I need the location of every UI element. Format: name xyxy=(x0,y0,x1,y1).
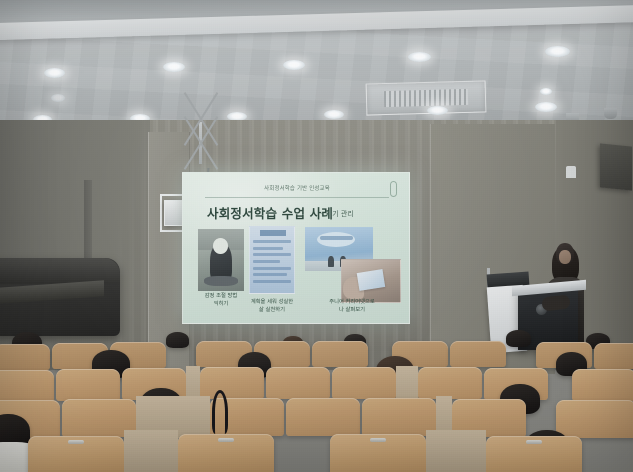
grand-piano xyxy=(0,258,120,336)
aisle-gap xyxy=(426,430,486,472)
lecture-hall-photo: 사회정서학습 기반 인성교육 사회정서학습 수업 사례 - 자기 관리 xyxy=(0,0,633,472)
worksheet-line xyxy=(253,247,284,250)
auditorium-seat[interactable] xyxy=(572,369,633,401)
slide-title: 사회정서학습 수업 사례 xyxy=(207,203,333,222)
ceiling-ac-vent-icon xyxy=(366,80,487,115)
ceiling xyxy=(0,0,633,132)
auditorium-seat[interactable] xyxy=(556,400,633,438)
ceiling-light-icon xyxy=(163,62,185,72)
worksheet-line xyxy=(253,240,292,243)
auditorium-seat[interactable] xyxy=(330,434,426,472)
ceiling-light-icon xyxy=(545,46,570,57)
seat-clip-icon xyxy=(526,440,542,444)
ceiling-light-icon xyxy=(283,60,305,70)
caption-line: 나 살펴보기 xyxy=(311,307,393,315)
auditorium-seat[interactable] xyxy=(594,343,633,369)
aisle-gap xyxy=(396,366,418,402)
slide-panel-tablet-photo xyxy=(341,259,401,303)
auditorium-seat[interactable] xyxy=(450,341,506,367)
auditorium-seat[interactable] xyxy=(362,398,436,436)
worksheet-line xyxy=(253,280,292,283)
auditorium-seat[interactable] xyxy=(0,370,54,402)
auditorium-seat[interactable] xyxy=(486,436,582,472)
slide-subtitle: - 자기 관리 xyxy=(321,209,354,219)
ceiling-light-icon xyxy=(44,68,65,78)
slide-panel-worksheet xyxy=(249,226,295,294)
projection-screen: 사회정서학습 기반 인성교육 사회정서학습 수업 사례 - 자기 관리 xyxy=(182,172,410,324)
auditorium-seat[interactable] xyxy=(312,341,368,367)
photo-legs xyxy=(204,276,237,286)
seat-clip-icon xyxy=(218,438,234,442)
auditorium-seat[interactable] xyxy=(418,367,482,399)
slide-divider xyxy=(205,197,389,198)
ceiling-light-icon xyxy=(540,88,552,95)
seat-clip-icon xyxy=(68,440,84,444)
worksheet-line xyxy=(253,267,292,270)
projector-scissor-bracket xyxy=(170,118,232,168)
presenter-face xyxy=(559,250,571,264)
vent-louvers xyxy=(383,88,468,107)
seat-clip-icon xyxy=(370,438,386,442)
audience-seating xyxy=(0,330,633,472)
slide-caption-3: 주니어 커리어넷으로 나 살펴보기 xyxy=(311,299,393,314)
auditorium-seat[interactable] xyxy=(332,367,396,399)
audience-head xyxy=(506,330,531,347)
worksheet-line xyxy=(253,260,280,263)
worksheet-line xyxy=(253,273,287,276)
slide-header: 사회정서학습 기반 인성교육 xyxy=(201,184,393,192)
ceiling-light-icon xyxy=(427,106,448,115)
ceiling-light-icon xyxy=(324,110,344,119)
ceiling-light-icon xyxy=(51,94,65,102)
caption-line: 주니어 커리어넷으로 xyxy=(311,299,393,307)
ceiling-light-icon xyxy=(408,52,431,62)
auditorium-seat[interactable] xyxy=(0,344,50,370)
auditorium-seat[interactable] xyxy=(200,367,264,399)
caption-line: 계획을 세워 성실한 xyxy=(239,299,305,307)
worksheet-header xyxy=(260,230,286,236)
slide-caption-2: 계획을 세워 성실한 삶 실천하기 xyxy=(239,299,305,314)
slide-panel-child-photo xyxy=(198,229,244,291)
wall-sensor-icon xyxy=(566,166,576,178)
paperclip-icon xyxy=(390,181,397,197)
auditorium-seat[interactable] xyxy=(178,434,274,472)
auditorium-seat[interactable] xyxy=(28,436,124,472)
photo-face-blur xyxy=(213,238,229,254)
spotlight-can-icon xyxy=(604,108,617,119)
auditorium-seat[interactable] xyxy=(56,369,120,401)
photo-tablet xyxy=(357,269,385,291)
auditorium-seat[interactable] xyxy=(266,367,330,399)
aisle-gap xyxy=(124,430,178,472)
wall-speaker-icon xyxy=(600,143,632,190)
auditorium-seat[interactable] xyxy=(286,398,360,436)
ceiling-light-icon xyxy=(535,102,557,112)
figure-icon xyxy=(328,256,334,267)
audience-head xyxy=(166,332,189,348)
worksheet-line xyxy=(253,253,292,256)
caption-line: 삶 실천하기 xyxy=(239,307,305,315)
cloud-text-block xyxy=(320,236,353,240)
bag-strap-icon xyxy=(212,390,228,434)
